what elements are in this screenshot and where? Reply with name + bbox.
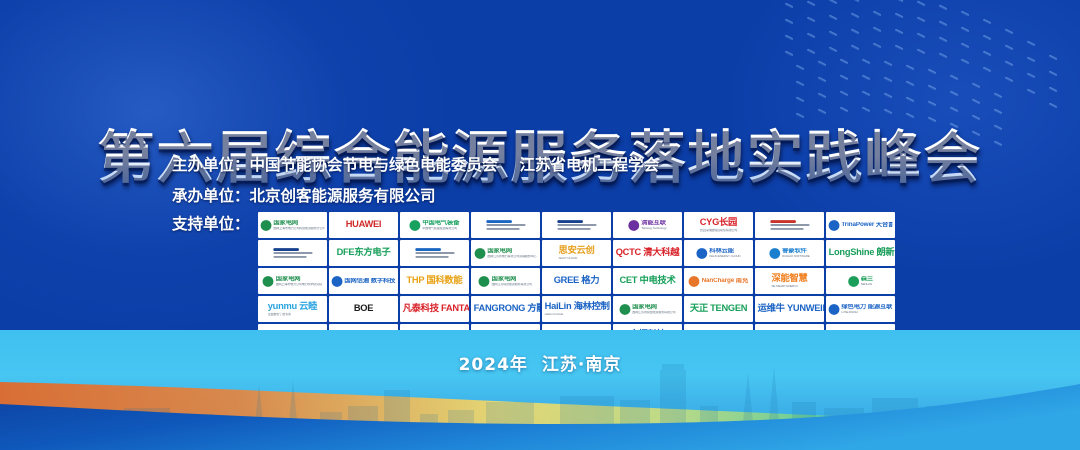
sponsor-logo-name: 思安云创 [558, 246, 594, 255]
sponsor-logo-wordmark-lines [272, 248, 311, 258]
sponsor-logo-row: yunmu 云睦全面数智了能专家BOE凡泰科技 FANTAIFANGRONG 方… [258, 296, 895, 322]
sponsor-logo-cell[interactable]: 中国电气装备中国电气装备集团有限公司 [400, 212, 469, 238]
sponsor-logo-name: 国家电网 [273, 220, 324, 226]
sponsor-logo-name: CYG长园 [699, 218, 737, 227]
sponsor-logo-cell[interactable]: 国家电网国网江苏省电力有限公司营销服务中心 [471, 240, 540, 266]
sponsor-logo-mark-icon [769, 248, 780, 259]
sponsor-logo-cell[interactable]: NanCharge 南充 [684, 268, 753, 294]
sponsor-logo-mark-icon [828, 304, 839, 315]
sponsor-logo-text: DFE东方电子 [336, 248, 390, 257]
sponsor-logo-cell[interactable]: 清能互联Tsintergy Technology [613, 212, 682, 238]
sponsor-logo-subtitle: 国网上海市电力公司电力科学研究院 [275, 283, 321, 286]
sponsor-logo-mark-icon [478, 276, 489, 287]
support-label: 支持单位： [172, 212, 250, 234]
sponsor-logo-text: HUAWEI [345, 220, 380, 229]
sponsor-logo-row: DFE东方电子国家电网国网江苏省电力有限公司营销服务中心思安云创SIACT CL… [258, 240, 895, 266]
sponsor-logo-cell[interactable] [400, 240, 469, 266]
conference-banner: 第六届综合能源服务落地实践峰会 主办单位：中国节能协会节电与绿色电能委员会江苏省… [0, 0, 1080, 450]
sponsor-logo-text: QCTC 清大科越 [615, 248, 679, 257]
sponsor-logo-mark-icon [260, 220, 271, 231]
sponsor-logo-cell[interactable]: TrinaPower 天合富家 [826, 212, 895, 238]
sponsor-logo-name: FANGRONG 方融科技 [473, 304, 537, 313]
sponsor-logo-text: 国家电网国网上海市电力公司电力科学研究院 [275, 276, 321, 286]
footer-year: 2024年 [459, 355, 528, 375]
sponsor-logo-subtitle: 中国电气装备集团有限公司 [422, 227, 459, 230]
sponsor-logo-text: 天正 TENGEN [689, 304, 746, 313]
host-value-secondary: 江苏省电机工程学会 [520, 150, 660, 181]
sponsor-logo-subtitle: 全面数智了能专家 [267, 313, 316, 316]
sponsor-logo-name: 天正 TENGEN [689, 304, 746, 313]
sponsor-logo-text: 绿色电力 能源互联LVSE DIANLI [841, 304, 892, 314]
sponsor-logo-text: 深能智慧SE SMART ENERGY [771, 274, 807, 288]
sponsor-logo-text: 国家电网国网江苏综合能源服务有限公司 [491, 276, 531, 286]
sponsor-logo-mark-icon [696, 248, 707, 259]
sponsor-logo-subtitle: Tsintergy Technology [641, 227, 666, 230]
sponsor-logo-cell[interactable]: 国家电网国网江苏综合能源服务有限公司 [471, 268, 540, 294]
sponsor-logo-name: 运维牛 YUNWEINIU [757, 304, 821, 313]
sponsor-logo-cell[interactable]: DFE东方电子 [329, 240, 398, 266]
sponsor-logo-name: HUAWEI [345, 220, 380, 229]
sponsor-logo-text: GREE 格力 [553, 276, 599, 285]
sponsor-logo-cell[interactable]: 凡泰科技 FANTAI [400, 296, 469, 322]
sponsor-logo-cell[interactable]: 国家电网国网上海市电力公司电力科学研究院 [258, 268, 327, 294]
sponsor-logo-cell[interactable]: 国家电网国网上海市电力公司综合能源服务分公司 [258, 212, 327, 238]
sponsor-logo-name: HaiLin 海林控制 [544, 302, 608, 311]
sponsor-logo-wordmark-lines [769, 220, 808, 230]
sponsor-logo-subtitle: 国网上海市电力公司综合能源服务分公司 [273, 227, 324, 230]
undertaker-value: 北京创客能源服务有限公司 [250, 181, 436, 212]
sponsor-logo-text: 凡泰科技 FANTAI [402, 304, 466, 313]
organizer-line-undertaker: 承办单位：北京创客能源服务有限公司 [172, 181, 1012, 212]
sponsor-logo-cell[interactable]: 国家电网国网江苏省综合能源服务有限公司 [613, 296, 682, 322]
sponsor-logo-row: 国家电网国网上海市电力公司电力科学研究院国网信通 数字科技THP 国科数能国家电… [258, 268, 895, 294]
sponsor-logo-text: 科林云能KELIN ENERGY CLOUD [709, 248, 740, 258]
sponsor-logo-name: 国网信通 数字科技 [344, 278, 395, 284]
sponsor-logo-cell[interactable]: BOE [329, 296, 398, 322]
undertaker-label: 承办单位： [172, 181, 250, 212]
sponsor-logo-subtitle: KELIN ENERGY CLOUD [709, 255, 740, 258]
sponsor-logo-name: THP 国科数能 [406, 276, 462, 285]
sponsor-logo-name: 清能互联 [641, 220, 666, 226]
sponsor-logo-cell[interactable]: CYG长园长园深瑞继保自动化有限公司 [684, 212, 753, 238]
sponsor-logo-cell[interactable]: GREE 格力 [542, 268, 611, 294]
sponsor-logo-subtitle: 长园深瑞继保自动化有限公司 [699, 229, 737, 232]
sponsor-logo-mark-icon [688, 276, 699, 287]
footer-info: 2024年江苏·南京 [0, 350, 1080, 375]
sponsor-logo-subtitle: HaiLin Controls [544, 313, 608, 316]
sponsor-logo-text: yunmu 云睦全面数智了能专家 [267, 302, 316, 316]
sponsor-logo-cell[interactable]: THP 国科数能 [400, 268, 469, 294]
sponsor-logo-row: 国家电网国网上海市电力公司综合能源服务分公司HUAWEI中国电气装备中国电气装备… [258, 212, 895, 238]
sponsor-logo-wordmark-lines [485, 220, 524, 230]
sponsor-logo-mark-icon [828, 220, 839, 231]
sponsor-logo-text: 国家电网国网江苏省电力有限公司营销服务中心 [487, 248, 536, 258]
sponsor-logo-mark-icon [331, 276, 342, 287]
sponsor-logo-subtitle: SIACT CLOUD [558, 257, 594, 260]
sponsor-logo-subtitle: RUIHAO SOFTWARE [782, 255, 810, 258]
sponsor-logo-text: TrinaPower 天合富家 [841, 222, 892, 228]
sponsor-logo-text: 国家电网国网江苏省综合能源服务有限公司 [632, 304, 675, 314]
sponsor-logo-name: CET 中电技术 [619, 276, 675, 285]
sponsor-logo-cell[interactable]: QCTC 清大科越 [613, 240, 682, 266]
sponsor-logo-text: 思安云创SIACT CLOUD [558, 246, 594, 260]
sponsor-logo-text: 清能互联Tsintergy Technology [641, 220, 666, 230]
sponsor-logo-cell[interactable]: FANGRONG 方融科技 [471, 296, 540, 322]
sponsor-logo-name: LongShine 朗新 [828, 248, 892, 257]
sponsor-logo-name: NanCharge 南充 [701, 278, 748, 284]
sponsor-logo-text: CYG长园长园深瑞继保自动化有限公司 [699, 218, 737, 232]
sponsor-logo-cell[interactable]: HUAWEI [329, 212, 398, 238]
sponsor-logo-cell[interactable]: 睿豪软件RUIHAO SOFTWARE [755, 240, 824, 266]
sponsor-logo-name: 国家电网 [487, 248, 536, 254]
sponsor-logo-cell[interactable]: yunmu 云睦全面数智了能专家 [258, 296, 327, 322]
sponsor-logo-mark-icon [628, 220, 639, 231]
sponsor-logo-text: CET 中电技术 [619, 276, 675, 285]
sponsor-logo-name: 国家电网 [275, 276, 321, 282]
sponsor-logo-cell[interactable]: 森兰SENLAN [826, 268, 895, 294]
sponsor-logo-name: yunmu 云睦 [267, 302, 316, 311]
host-value: 中国节能协会节电与绿色电能委员会 [250, 150, 498, 181]
organizer-block: 主办单位：中国节能协会节电与绿色电能委员会江苏省电机工程学会 承办单位：北京创客… [172, 150, 1012, 212]
sponsor-logo-name: 中国电气装备 [422, 220, 459, 226]
sponsor-logo-cell[interactable]: LongShine 朗新 [826, 240, 895, 266]
sponsor-logo-cell[interactable]: 天正 TENGEN [684, 296, 753, 322]
sponsor-logo-name: 深能智慧 [771, 274, 807, 283]
sponsor-logo-name: 国家电网 [632, 304, 675, 310]
sponsor-logo-mark-icon [619, 304, 630, 315]
sponsor-logo-subtitle: SENLAN [860, 283, 872, 286]
sponsor-logo-name: 绿色电力 能源互联 [841, 304, 892, 310]
sponsor-logo-name: BOE [353, 304, 372, 313]
footer-scene: 2024年江苏·南京 [0, 330, 1080, 450]
sponsor-logo-subtitle: 国网江苏省综合能源服务有限公司 [632, 311, 675, 314]
sponsor-logo-name: 凡泰科技 FANTAI [402, 304, 466, 313]
sponsor-logo-wordmark-lines [414, 248, 453, 258]
sponsor-logo-name: DFE东方电子 [336, 248, 390, 257]
sponsor-logo-name: 睿豪软件 [782, 248, 810, 254]
sponsor-logo-cell[interactable]: 运维牛 YUNWEINIU [755, 296, 824, 322]
sponsor-logo-text: HaiLin 海林控制HaiLin Controls [544, 302, 608, 316]
sponsor-logo-cell[interactable] [755, 212, 824, 238]
sponsor-logo-text: FANGRONG 方融科技 [473, 304, 537, 313]
bottom-wave [0, 370, 1080, 450]
sponsor-logo-text: THP 国科数能 [406, 276, 462, 285]
sponsor-logo-name: 科林云能 [709, 248, 740, 254]
sponsor-logo-cell[interactable] [258, 240, 327, 266]
sponsor-logo-text: 运维牛 YUNWEINIU [757, 304, 821, 313]
sponsor-logo-name: QCTC 清大科越 [615, 248, 679, 257]
sponsor-logo-cell[interactable] [471, 212, 540, 238]
sponsor-logo-name: GREE 格力 [553, 276, 599, 285]
sponsor-logo-mark-icon [847, 276, 858, 287]
sponsor-logo-name: TrinaPower 天合富家 [841, 222, 892, 228]
sponsor-logo-text: 国家电网国网上海市电力公司综合能源服务分公司 [273, 220, 324, 230]
sponsor-logo-text: NanCharge 南充 [701, 278, 748, 284]
sponsor-logo-wordmark-lines [556, 220, 595, 230]
sponsor-logo-cell[interactable]: 国网信通 数字科技 [329, 268, 398, 294]
sponsor-logo-subtitle: 国网江苏综合能源服务有限公司 [491, 283, 531, 286]
sponsor-logo-mark-icon [409, 220, 420, 231]
sponsor-logo-subtitle: 国网江苏省电力有限公司营销服务中心 [487, 255, 536, 258]
host-label: 主办单位： [172, 150, 250, 181]
sponsor-logo-cell[interactable]: HaiLin 海林控制HaiLin Controls [542, 296, 611, 322]
sponsor-logo-cell[interactable]: 深能智慧SE SMART ENERGY [755, 268, 824, 294]
footer-location: 江苏·南京 [542, 355, 621, 375]
sponsor-logo-mark-icon [474, 248, 485, 259]
sponsor-logo-text: 中国电气装备中国电气装备集团有限公司 [422, 220, 459, 230]
sponsor-logo-text: 国网信通 数字科技 [344, 278, 395, 284]
sponsor-logo-subtitle: LVSE DIANLI [841, 311, 892, 314]
sponsor-logo-text: 睿豪软件RUIHAO SOFTWARE [782, 248, 810, 258]
sponsor-logo-text: 森兰SENLAN [860, 276, 872, 286]
sponsor-logo-subtitle: SE SMART ENERGY [771, 285, 807, 288]
sponsor-logo-cell[interactable] [542, 212, 611, 238]
sponsor-logo-name: 国家电网 [491, 276, 531, 282]
sponsor-logo-cell[interactable]: 绿色电力 能源互联LVSE DIANLI [826, 296, 895, 322]
sponsor-logo-cell[interactable]: 科林云能KELIN ENERGY CLOUD [684, 240, 753, 266]
sponsor-logo-mark-icon [263, 276, 274, 287]
sponsor-logo-name: 森兰 [860, 276, 872, 282]
organizer-line-host: 主办单位：中国节能协会节电与绿色电能委员会江苏省电机工程学会 [172, 150, 1012, 181]
sponsor-logo-cell[interactable]: CET 中电技术 [613, 268, 682, 294]
sponsor-logo-cell[interactable]: 思安云创SIACT CLOUD [542, 240, 611, 266]
sponsor-logo-text: LongShine 朗新 [828, 248, 892, 257]
sponsor-logo-text: BOE [353, 304, 372, 313]
